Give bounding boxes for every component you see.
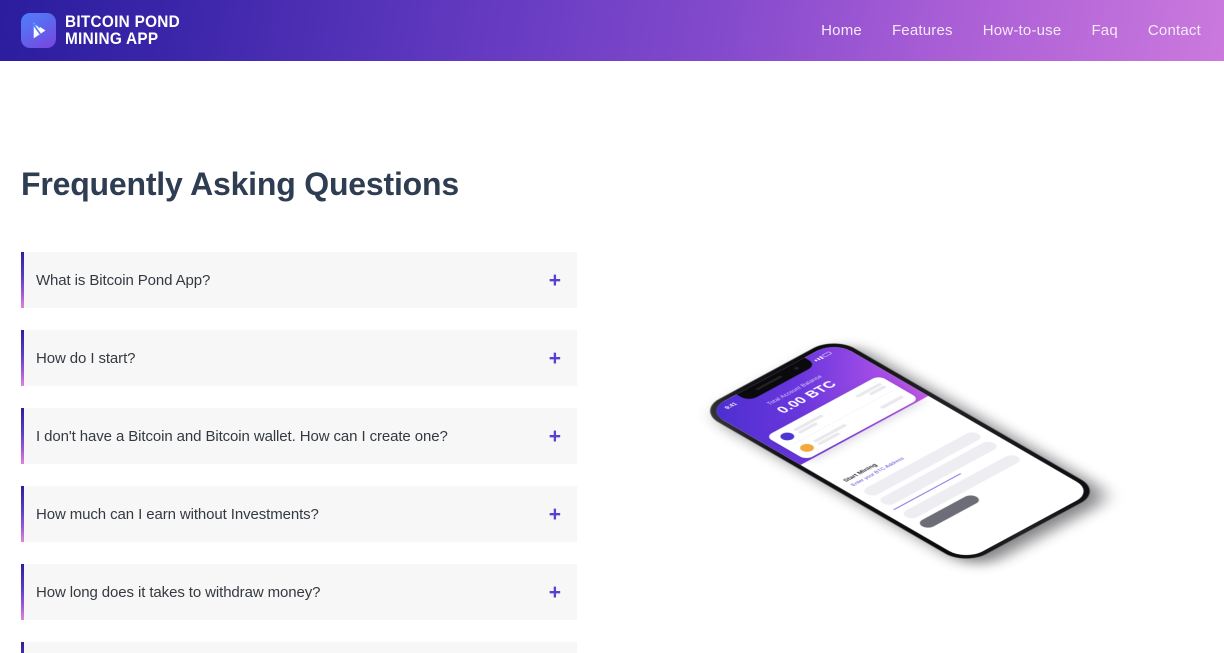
faq-item[interactable]: How long does it takes to withdraw money… bbox=[21, 564, 577, 620]
site-header: BITCOIN POND MINING APP Home Features Ho… bbox=[0, 0, 1224, 61]
faq-page: Frequently Asking Questions What is Bitc… bbox=[0, 61, 1224, 653]
plus-icon[interactable]: + bbox=[541, 504, 561, 525]
nav-item-features[interactable]: Features bbox=[892, 22, 953, 39]
app-rate-field[interactable] bbox=[900, 453, 1023, 520]
faq-question: How do I start? bbox=[36, 350, 135, 367]
plus-icon[interactable]: + bbox=[541, 426, 561, 447]
phone-mockup: 9:41 Total Account Balance 0.00 BTC WITH… bbox=[600, 286, 1200, 616]
app-card-value bbox=[879, 395, 904, 409]
faq-accordion: What is Bitcoin Pond App? + How do I sta… bbox=[21, 252, 577, 653]
brand-wordmark: BITCOIN POND MINING APP bbox=[65, 14, 180, 48]
bitcoin-coin-icon bbox=[777, 431, 797, 442]
faq-question: I don't have a Bitcoin and Bitcoin walle… bbox=[36, 428, 448, 445]
nav-item-home[interactable]: Home bbox=[821, 22, 862, 39]
faq-question: How much can I earn without Investments? bbox=[36, 506, 319, 523]
brand-line-1: BITCOIN POND bbox=[65, 14, 180, 31]
plus-icon[interactable]: + bbox=[541, 270, 561, 291]
brand-line-2: MINING APP bbox=[65, 31, 180, 48]
faq-item[interactable]: What is Bitcoin Pond App? + bbox=[21, 252, 577, 308]
faq-question: What is Bitcoin Pond App? bbox=[36, 272, 210, 289]
main-navigation: Home Features How-to-use Faq Contact bbox=[821, 22, 1224, 39]
nav-item-faq[interactable]: Faq bbox=[1091, 22, 1117, 39]
faq-item[interactable]: How much can I earn without Investments?… bbox=[21, 486, 577, 542]
status-signal-icons bbox=[813, 351, 832, 362]
app-card-value bbox=[855, 383, 887, 401]
page-title: Frequently Asking Questions bbox=[21, 166, 459, 203]
faq-item[interactable]: I don't have a Bitcoin and Bitcoin walle… bbox=[21, 408, 577, 464]
status-time: 9:41 bbox=[724, 402, 739, 410]
plus-icon[interactable]: + bbox=[541, 348, 561, 369]
faq-item[interactable]: Is it supported on iOS device? + bbox=[21, 642, 577, 653]
nav-item-contact[interactable]: Contact bbox=[1148, 22, 1201, 39]
nav-item-how-to-use[interactable]: How-to-use bbox=[983, 22, 1062, 39]
app-progress-bar bbox=[893, 473, 961, 510]
faq-item[interactable]: How do I start? + bbox=[21, 330, 577, 386]
pickaxe-play-icon bbox=[21, 13, 56, 48]
plus-icon[interactable]: + bbox=[541, 582, 561, 603]
faq-question: How long does it takes to withdraw money… bbox=[36, 584, 320, 601]
app-start-mining-button[interactable] bbox=[916, 494, 982, 530]
brand-logo[interactable]: BITCOIN POND MINING APP bbox=[0, 13, 189, 48]
